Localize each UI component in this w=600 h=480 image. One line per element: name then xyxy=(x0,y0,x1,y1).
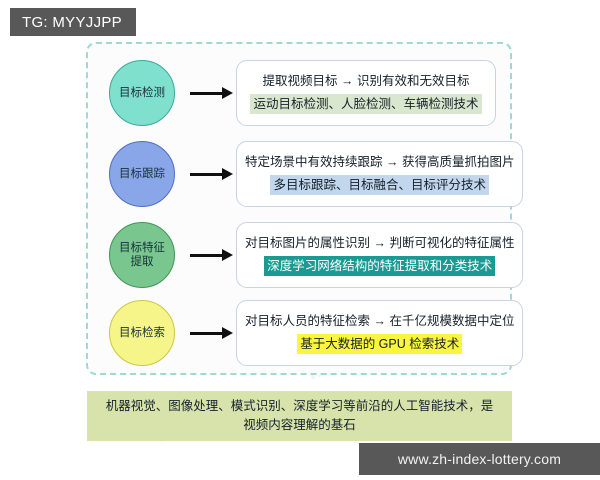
stage-node-tracking[interactable]: 目标跟踪 xyxy=(109,141,175,207)
diagram-row: 目标跟踪 特定场景中有效持续跟踪 → 获得高质量抓拍图片 多目标跟踪、目标融合、… xyxy=(88,137,510,211)
node-wrap: 目标特征 提取 xyxy=(88,222,196,288)
diagram-frame: 目标检测 提取视频目标 → 识别有效和无效目标 运动目标检测、人脸检测、车辆检测… xyxy=(86,42,512,375)
card-technology-highlight: 多目标跟踪、目标融合、目标评分技术 xyxy=(270,175,489,196)
stage-node-detection[interactable]: 目标检测 xyxy=(109,60,175,126)
summary-line-2: 视频内容理解的基石 xyxy=(243,416,356,435)
stage-card-retrieval: 对目标人员的特征检索 → 在千亿规模数据中定位 基于大数据的 GPU 检索技术 xyxy=(236,300,523,366)
node-wrap: 目标检索 xyxy=(88,300,196,366)
card-description: 对目标人员的特征检索 → 在千亿规模数据中定位 xyxy=(245,312,514,331)
arrow-icon xyxy=(190,86,236,100)
stage-node-retrieval[interactable]: 目标检索 xyxy=(109,300,175,366)
summary-banner: 机器视觉、图像处理、模式识别、深度学习等前沿的人工智能技术，是 视频内容理解的基… xyxy=(87,391,512,441)
summary-line-1: 机器视觉、图像处理、模式识别、深度学习等前沿的人工智能技术，是 xyxy=(106,397,494,416)
stage-card-detection: 提取视频目标 → 识别有效和无效目标 运动目标检测、人脸检测、车辆检测技术 xyxy=(236,60,496,126)
node-wrap: 目标检测 xyxy=(88,60,196,126)
node-label-line1: 目标检索 xyxy=(119,326,165,340)
node-label-line1: 目标跟踪 xyxy=(119,167,165,181)
arrow-icon xyxy=(190,326,236,340)
node-wrap: 目标跟踪 xyxy=(88,141,196,207)
card-technology-highlight: 运动目标检测、人脸检测、车辆检测技术 xyxy=(250,94,481,115)
arrow-icon xyxy=(190,248,236,262)
stage-node-feature-extraction[interactable]: 目标特征 提取 xyxy=(109,222,175,288)
stage-card-tracking: 特定场景中有效持续跟踪 → 获得高质量抓拍图片 多目标跟踪、目标融合、目标评分技… xyxy=(236,141,523,207)
card-technology-highlight: 基于大数据的 GPU 检索技术 xyxy=(297,334,462,355)
node-label-line2: 提取 xyxy=(131,255,154,269)
node-label-line1: 目标检测 xyxy=(119,86,165,100)
node-label-line1: 目标特征 xyxy=(119,241,165,255)
card-technology-highlight: 深度学习网络结构的特征提取和分类技术 xyxy=(264,256,495,277)
stage-card-feature-extraction: 对目标图片的属性识别 → 判断可视化的特征属性 深度学习网络结构的特征提取和分类… xyxy=(236,222,523,288)
arrow-icon xyxy=(190,167,236,181)
diagram-row: 目标特征 提取 对目标图片的属性识别 → 判断可视化的特征属性 深度学习网络结构… xyxy=(88,218,510,292)
diagram-row: 目标检索 对目标人员的特征检索 → 在千亿规模数据中定位 基于大数据的 GPU … xyxy=(88,296,510,370)
tg-badge: TG: MYYJJPP xyxy=(10,8,136,36)
card-description: 特定场景中有效持续跟踪 → 获得高质量抓拍图片 xyxy=(245,153,514,172)
diagram-row: 目标检测 提取视频目标 → 识别有效和无效目标 运动目标检测、人脸检测、车辆检测… xyxy=(88,56,510,130)
card-description: 对目标图片的属性识别 → 判断可视化的特征属性 xyxy=(245,234,514,253)
source-url-watermark: www.zh-index-lottery.com xyxy=(359,443,600,475)
card-description: 提取视频目标 → 识别有效和无效目标 xyxy=(263,72,470,91)
